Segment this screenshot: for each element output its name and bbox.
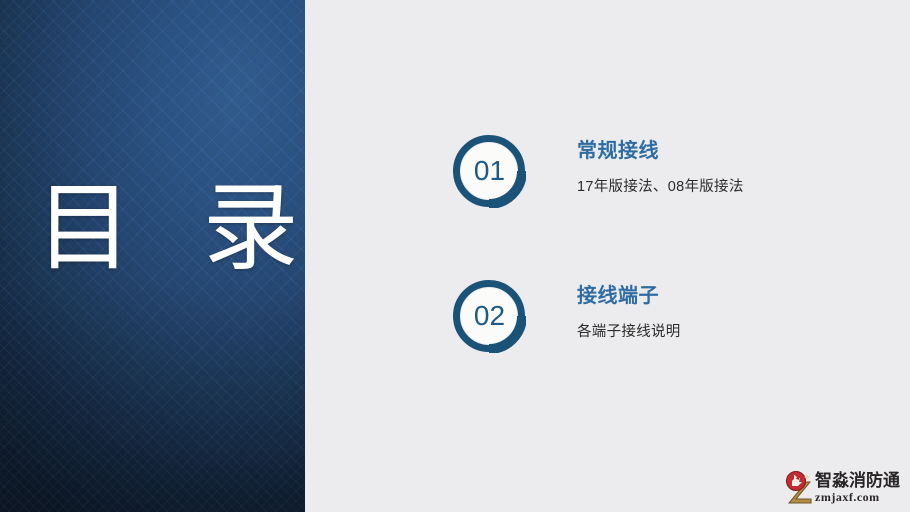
- presentation-slide: 目 录 01 常规接线 17年版接法、08年版接法: [0, 0, 910, 512]
- toc-number-01: 01: [452, 134, 526, 208]
- toc-subtitle-01: 17年版接法、08年版接法: [577, 177, 744, 197]
- toc-text-block-02: 接线端子 各端子接线说明: [577, 279, 681, 342]
- toc-number-02: 02: [452, 279, 526, 353]
- toc-title-02: 接线端子: [577, 283, 681, 309]
- watermark-text: 智淼消防通 zmjaxf.com: [815, 472, 900, 504]
- toc-subtitle-02: 各端子接线说明: [577, 322, 681, 342]
- toc-entry-01[interactable]: 01 常规接线 17年版接法、08年版接法: [452, 134, 744, 208]
- number-badge-02: 02: [452, 279, 526, 353]
- slide-content-area: 01 常规接线 17年版接法、08年版接法 02 接线端子 各端子接线说明: [305, 0, 910, 512]
- number-badge-01: 01: [452, 134, 526, 208]
- page-title: 目 录: [36, 174, 305, 284]
- watermark: 智淼消防通 zmjaxf.com: [784, 470, 900, 506]
- toc-title-01: 常规接线: [577, 138, 744, 164]
- slide-left-panel: 目 录: [0, 0, 305, 512]
- watermark-brand: 智淼消防通: [815, 472, 900, 490]
- brand-logo-icon: [784, 470, 818, 506]
- toc-text-block-01: 常规接线 17年版接法、08年版接法: [577, 134, 744, 197]
- toc-entry-02[interactable]: 02 接线端子 各端子接线说明: [452, 279, 681, 353]
- watermark-url: zmjaxf.com: [815, 490, 900, 504]
